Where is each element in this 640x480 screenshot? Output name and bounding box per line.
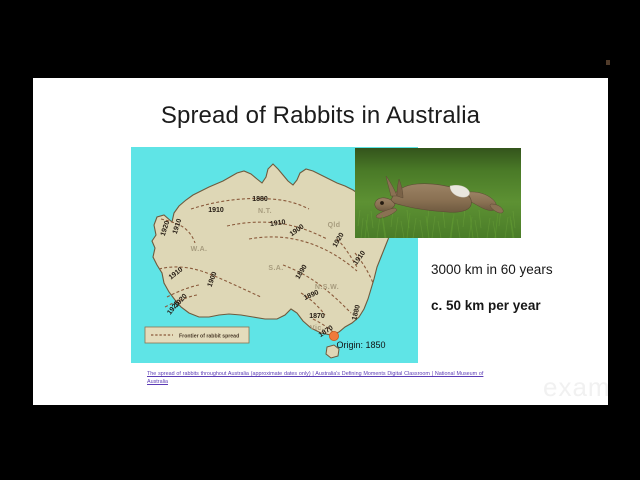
video-player-stage: Spread of Rabbits in Australia [0, 0, 640, 480]
year-label: 1870 [309, 313, 325, 320]
presentation-slide: Spread of Rabbits in Australia [33, 78, 608, 405]
state-label-wa: W.A. [191, 246, 208, 253]
source-citation-link[interactable]: The spread of rabbits throughout Austral… [147, 370, 487, 386]
origin-caption: Origin: 1850 [336, 340, 385, 350]
map-legend: Frontier of rabbit spread [145, 327, 249, 343]
corner-artifact-dot [606, 60, 610, 65]
rabbit-photo [355, 148, 521, 238]
stat-distance: 3000 km in 60 years [431, 261, 581, 279]
stats-text-block: 3000 km in 60 years c. 50 km per year [431, 261, 581, 315]
legend-label: Frontier of rabbit spread [179, 334, 239, 340]
year-label: 1880 [252, 196, 268, 203]
state-label-nsw: N.S.W. [315, 284, 339, 291]
page-title: Spread of Rabbits in Australia [33, 102, 608, 130]
year-label: 1910 [208, 207, 224, 214]
stat-rate: c. 50 km per year [431, 297, 581, 315]
state-label-qld: Qld [328, 222, 341, 229]
watermark-text: exam [543, 372, 608, 403]
rabbit-eye [380, 201, 384, 205]
state-label-nt: N.T. [258, 208, 272, 215]
rabbit-photo-graphic [355, 148, 521, 238]
state-label-sa: S.A. [268, 265, 283, 272]
